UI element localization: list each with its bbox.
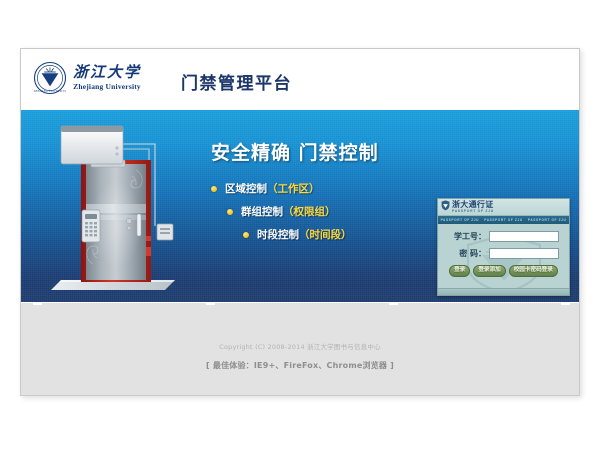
- login-form: 学工号： 密 码： 登录 登录添加 校园卡密码登录: [438, 224, 569, 277]
- university-name-cn: 浙江大学: [73, 66, 141, 81]
- browser-compatibility-note: [ 最佳体验：IE9+、FireFox、Chrome浏览器 ]: [21, 360, 579, 371]
- hero-banner: 安全精确 门禁控制 区域控制 （工作区） 群组控制 （权限组） 时段控: [21, 110, 579, 302]
- site-header: ZHEJIANG UNIVERSITY 浙江大学 Zhejiang Univer…: [21, 49, 579, 111]
- zju-seal-icon: ZHEJIANG UNIVERSITY: [33, 61, 67, 95]
- banner-headline: 安全精确 门禁控制: [211, 138, 426, 165]
- page-frame: ZHEJIANG UNIVERSITY 浙江大学 Zhejiang Univer…: [20, 48, 580, 396]
- bullet-dot-icon: [227, 209, 233, 215]
- svg-text:ZHEJIANG UNIVERSITY: ZHEJIANG UNIVERSITY: [34, 90, 67, 93]
- list-item: 区域控制 （工作区）: [211, 181, 426, 196]
- login-panel: 浙大通行证 PASSPORT OF ZJU PASSPORT OF ZJU PA…: [437, 198, 570, 296]
- list-item: 时段控制 （时间段）: [243, 227, 426, 242]
- shield-icon: [441, 198, 450, 216]
- login-panel-header: 浙大通行证 PASSPORT OF ZJU: [438, 199, 569, 216]
- login-panel-title-cn: 浙大通行证: [452, 201, 494, 209]
- login-button[interactable]: 登录: [449, 265, 470, 277]
- feature-sub-label: （工作区）: [267, 181, 320, 196]
- login-add-button[interactable]: 登录添加: [473, 265, 505, 277]
- feature-sub-label: （权限组）: [283, 204, 336, 219]
- ribbon-text: PASSPORT OF ZJU: [441, 218, 480, 222]
- student-id-input[interactable]: [489, 231, 559, 242]
- feature-list: 区域控制 （工作区） 群组控制 （权限组） 时段控制 （时间段）: [211, 181, 426, 242]
- screenshot-root: ZHEJIANG UNIVERSITY 浙江大学 Zhejiang Univer…: [0, 0, 600, 450]
- bullet-dot-icon: [211, 186, 217, 192]
- feature-sub-label: （时间段）: [299, 227, 352, 242]
- copyright-text: Copyright (C) 2008-2014 浙江大学图书与信息中心: [21, 341, 579, 351]
- feature-main-label: 时段控制: [257, 227, 299, 242]
- university-logo[interactable]: ZHEJIANG UNIVERSITY 浙江大学 Zhejiang Univer…: [33, 61, 141, 95]
- feature-main-label: 区域控制: [225, 181, 267, 196]
- banner-text-block: 安全精确 门禁控制 区域控制 （工作区） 群组控制 （权限组） 时段控: [211, 138, 426, 250]
- access-control-door-illustration: [33, 118, 203, 298]
- footer-notch: [561, 302, 570, 305]
- site-footer: Copyright (C) 2008-2014 浙江大学图书与信息中心 [ 最佳…: [21, 302, 579, 396]
- ribbon-text: PASSPORT OF ZJU: [528, 218, 567, 222]
- student-id-label: 学工号：: [444, 231, 489, 242]
- password-input[interactable]: [489, 248, 559, 259]
- login-panel-title-en: PASSPORT OF ZJU: [452, 210, 494, 213]
- university-name-en: Zhejiang University: [73, 83, 141, 91]
- campus-card-login-button[interactable]: 校园卡密码登录: [509, 265, 558, 277]
- login-button-row: 登录 登录添加 校园卡密码登录: [444, 265, 563, 277]
- login-panel-ribbon: PASSPORT OF ZJU PASSPORT OF ZJU PASSPORT…: [438, 216, 569, 224]
- feature-main-label: 群组控制: [241, 204, 283, 219]
- footer-notch: [206, 302, 215, 305]
- footer-notch: [33, 302, 42, 305]
- page-title: 门禁管理平台: [181, 69, 292, 94]
- password-row: 密 码：: [444, 248, 563, 259]
- student-id-row: 学工号：: [444, 231, 563, 242]
- list-item: 群组控制 （权限组）: [227, 204, 426, 219]
- password-label: 密 码：: [444, 248, 489, 259]
- bullet-dot-icon: [243, 232, 249, 238]
- login-panel-footer-strip: [438, 288, 569, 295]
- university-wordmark: 浙江大学 Zhejiang University: [73, 66, 141, 91]
- footer-notch: [389, 302, 398, 305]
- ribbon-text: PASSPORT OF ZJU: [484, 218, 523, 222]
